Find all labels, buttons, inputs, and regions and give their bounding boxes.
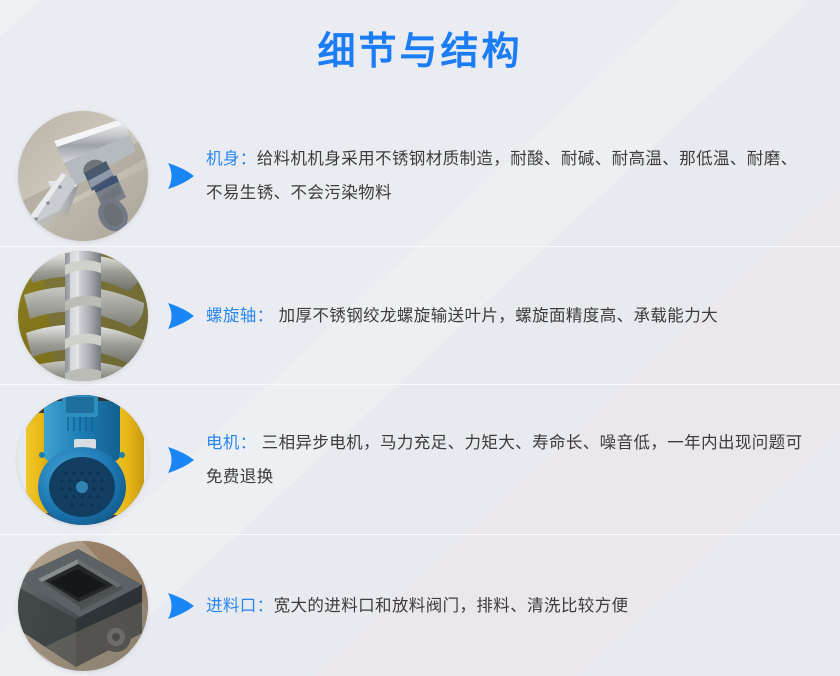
- section-divider-3: [0, 534, 840, 535]
- page-title: 细节与结构: [0, 28, 840, 77]
- section-divider-2: [0, 384, 840, 385]
- feature-body-spiral-shaft: 加厚不锈钢绞龙螺旋输送叶片，螺旋面精度高、承载能力大: [274, 307, 718, 325]
- feature-text-motor: 电机： 三相异步电机，马力充足、力矩大、寿命长、噪音低，一年内出现问题可免费退换: [206, 426, 840, 494]
- feature-body-feed-inlet: 宽大的进料口和放料阀门，排料、清洗比较方便: [274, 597, 629, 615]
- arrow-right-icon: [164, 159, 198, 193]
- screw-conveyor-photo: [18, 111, 148, 241]
- feature-text-spiral-shaft: 螺旋轴： 加厚不锈钢绞龙螺旋输送叶片，螺旋面精度高、承载能力大: [206, 299, 840, 333]
- feature-row-feed-inlet: 进料口：宽大的进料口和放料阀门，排料、清洗比较方便: [0, 536, 840, 676]
- feature-label-motor: 电机：: [206, 434, 257, 452]
- feature-label-spiral-shaft: 螺旋轴：: [206, 307, 274, 325]
- feature-row-machine-body: 机身：给料机机身采用不锈钢材质制造，耐酸、耐碱、耐高温、那低温、耐磨、不易生锈、…: [0, 106, 840, 246]
- feature-body-motor: 三相异步电机，马力充足、力矩大、寿命长、噪音低，一年内出现问题可免费退换: [206, 434, 803, 486]
- feature-label-feed-inlet: 进料口：: [206, 597, 274, 615]
- feature-text-feed-inlet: 进料口：宽大的进料口和放料阀门，排料、清洗比较方便: [206, 589, 840, 623]
- section-divider-1: [0, 246, 840, 247]
- arrow-right-icon: [164, 299, 198, 333]
- feature-text-machine-body: 机身：给料机机身采用不锈钢材质制造，耐酸、耐碱、耐高温、那低温、耐磨、不易生锈、…: [206, 142, 840, 210]
- arrow-right-icon: [164, 589, 198, 623]
- feed-inlet-photo: [18, 541, 148, 671]
- page-content: 细节与结构: [0, 0, 840, 676]
- feature-row-spiral-shaft: 螺旋轴： 加厚不锈钢绞龙螺旋输送叶片，螺旋面精度高、承载能力大: [0, 248, 840, 384]
- auger-screw-photo: [18, 251, 148, 381]
- electric-motor-photo: [18, 395, 148, 525]
- feature-body-machine-body: 给料机机身采用不锈钢材质制造，耐酸、耐碱、耐高温、那低温、耐磨、不易生锈、不会污…: [206, 150, 798, 202]
- feature-label-machine-body: 机身：: [206, 150, 257, 168]
- arrow-right-icon: [164, 443, 198, 477]
- product-detail-page: 细节与结构: [0, 0, 840, 676]
- feature-row-motor: 电机： 三相异步电机，马力充足、力矩大、寿命长、噪音低，一年内出现问题可免费退换: [0, 386, 840, 534]
